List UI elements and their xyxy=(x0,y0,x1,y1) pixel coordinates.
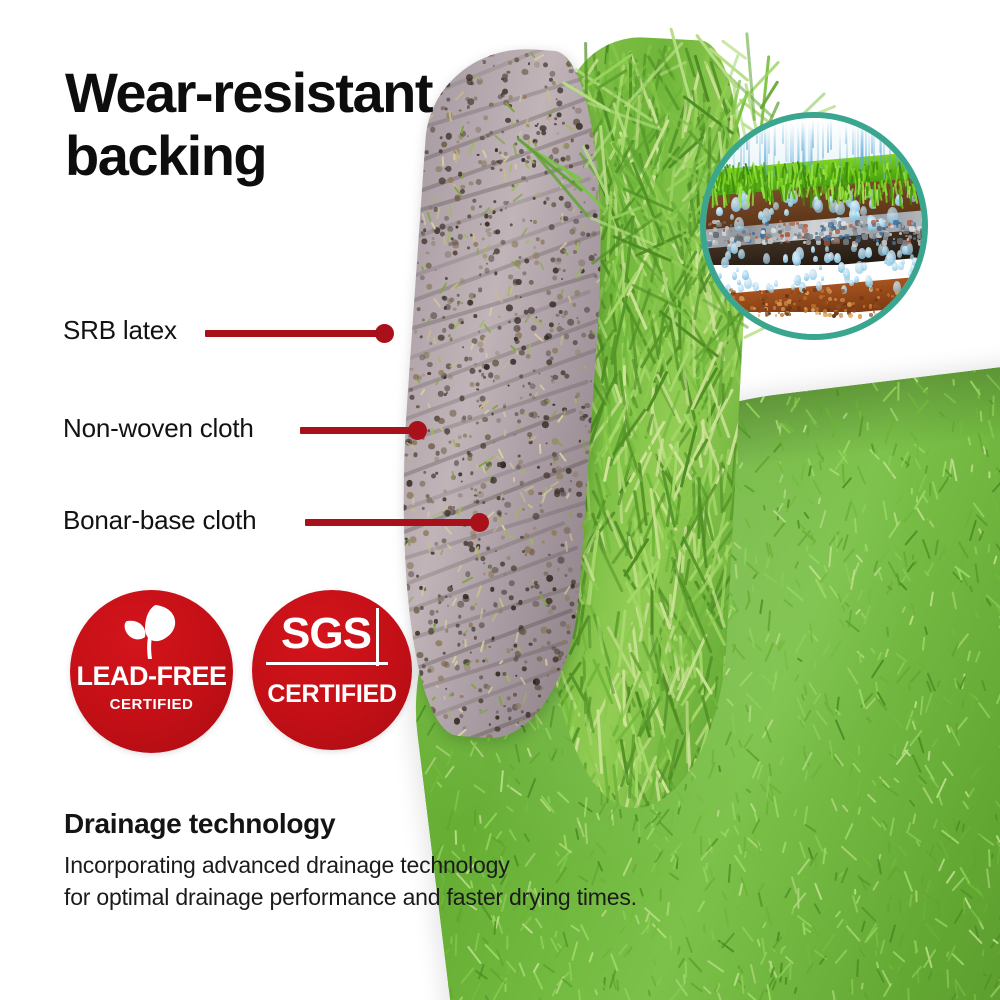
sgs-vertical-rule xyxy=(376,608,379,666)
sgs-horizontal-rule xyxy=(266,662,388,665)
callout-srb-latex: SRB latex xyxy=(63,315,177,346)
leader-dot-icon xyxy=(375,324,394,343)
callout-non-woven-cloth: Non-woven cloth xyxy=(63,413,254,444)
leader-line-icon xyxy=(300,427,418,434)
callout-bonar-base-cloth: Bonar-base cloth xyxy=(63,505,256,536)
sgs-crosshair-icon: SGS xyxy=(272,612,392,674)
badge-sgs-certified: SGS CERTIFIED xyxy=(252,590,412,750)
leader-dot-icon xyxy=(408,421,427,440)
leader-line-icon xyxy=(205,330,385,337)
callout-label: SRB latex xyxy=(63,315,177,346)
sgs-wordmark: SGS xyxy=(272,612,380,656)
badge-subtitle: CERTIFIED xyxy=(267,680,396,709)
badge-title: LEAD-FREE xyxy=(77,663,227,690)
product-feature-image: Wear-resistant backing SRB latex Non-wov… xyxy=(0,0,1000,1000)
drainage-layers xyxy=(706,118,922,334)
drainage-heading: Drainage technology xyxy=(64,808,335,840)
callout-label: Bonar-base cloth xyxy=(63,505,256,536)
callout-label: Non-woven cloth xyxy=(63,413,254,444)
page-title: Wear-resistant backing xyxy=(65,62,685,187)
leaf-sprout-icon xyxy=(115,601,189,661)
badge-subtitle: CERTIFIED xyxy=(110,696,194,713)
leader-dot-icon xyxy=(470,513,489,532)
leader-line-icon xyxy=(305,519,480,526)
badge-lead-free-certified: LEAD-FREE CERTIFIED xyxy=(70,590,233,753)
drainage-cross-section-diagram xyxy=(700,112,928,340)
drainage-description: Incorporating advanced drainage technolo… xyxy=(64,850,637,913)
